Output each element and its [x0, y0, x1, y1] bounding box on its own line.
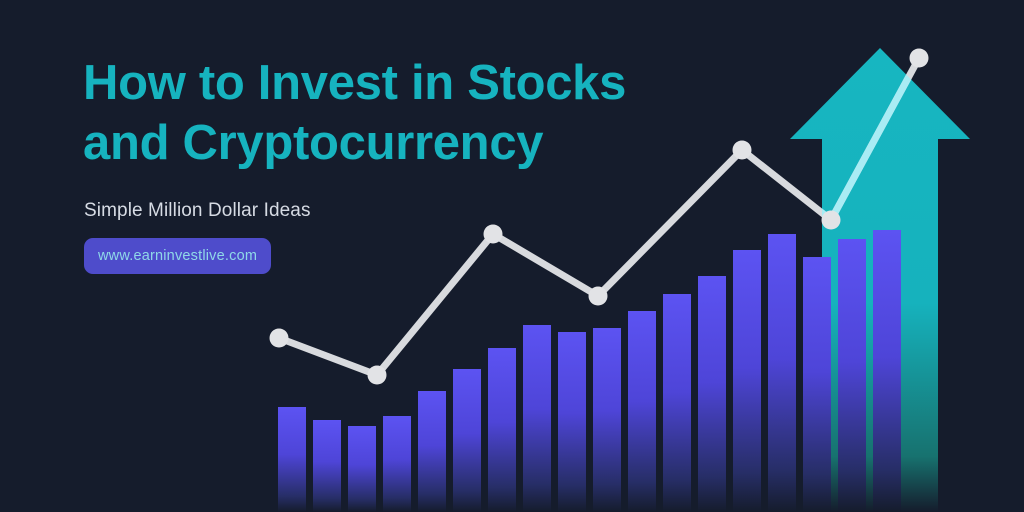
- data-point-marker: [910, 49, 929, 68]
- data-point-marker: [270, 329, 289, 348]
- bar: [453, 369, 481, 512]
- data-point-marker: [822, 211, 841, 230]
- bar: [383, 416, 411, 512]
- data-point-marker: [589, 287, 608, 306]
- bar: [873, 230, 901, 512]
- bar: [278, 407, 306, 512]
- data-point-marker: [484, 225, 503, 244]
- bar: [593, 328, 621, 512]
- bar: [663, 294, 691, 512]
- data-point-marker: [368, 366, 387, 385]
- website-url-badge[interactable]: www.earninvestlive.com: [84, 238, 271, 274]
- bar: [488, 348, 516, 512]
- subtitle: Simple Million Dollar Ideas: [84, 200, 311, 222]
- bar: [698, 276, 726, 512]
- page-title: How to Invest in Stocks and Cryptocurren…: [83, 53, 723, 173]
- bar: [313, 420, 341, 512]
- bar: [523, 325, 551, 512]
- bar: [803, 257, 831, 512]
- bar: [418, 391, 446, 512]
- data-point-marker: [733, 141, 752, 160]
- bar: [838, 239, 866, 512]
- bar: [768, 234, 796, 512]
- bar: [628, 311, 656, 512]
- bar: [558, 332, 586, 512]
- poster-canvas: How to Invest in Stocks and Cryptocurren…: [0, 0, 1024, 512]
- bar: [733, 250, 761, 512]
- bar: [348, 426, 376, 512]
